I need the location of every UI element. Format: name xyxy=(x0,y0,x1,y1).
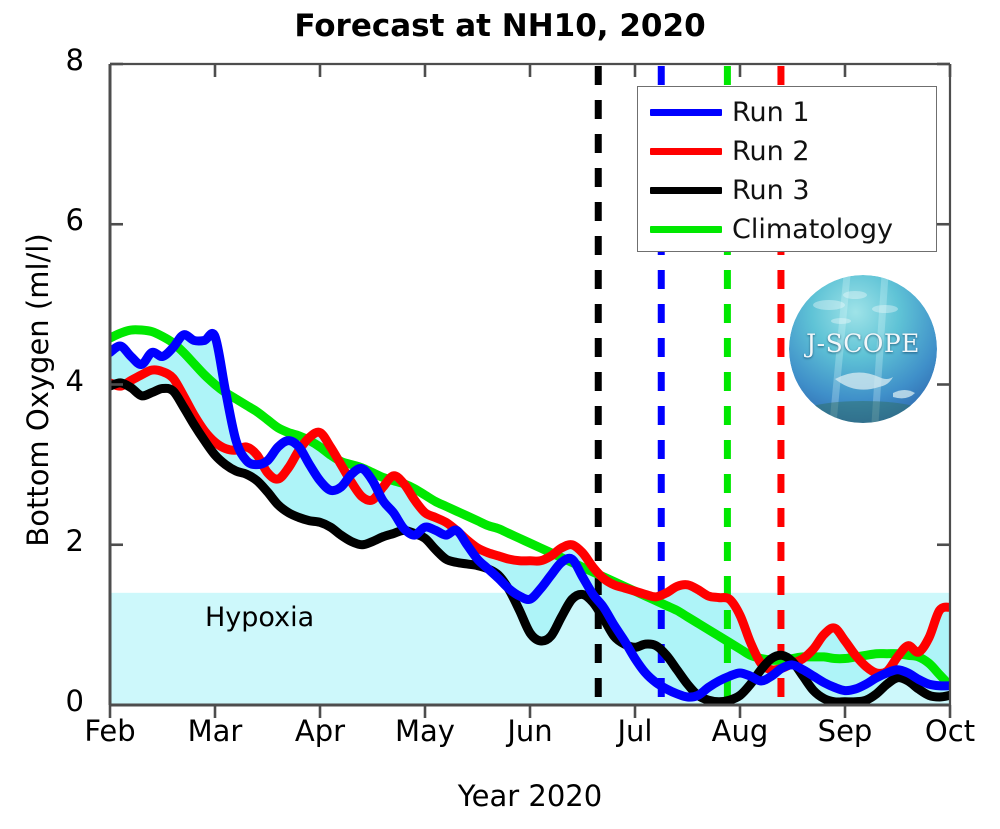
hypoxia-label: Hypoxia xyxy=(205,602,314,633)
y-tick-label: 0 xyxy=(22,684,84,718)
chart-canvas: Forecast at NH10, 2020 Bottom Oxygen (ml… xyxy=(0,0,1000,829)
y-tick-label: 8 xyxy=(22,43,84,77)
x-tick-label: Feb xyxy=(50,714,170,748)
legend-label-run2: Run 2 xyxy=(732,138,810,165)
legend-item-climatology[interactable]: Climatology xyxy=(638,210,936,249)
legend-swatch-run1 xyxy=(650,109,722,116)
jscope-logo-text: J-SCOPE xyxy=(789,329,937,358)
legend-item-run3[interactable]: Run 3 xyxy=(638,171,936,210)
legend-swatch-run3 xyxy=(650,187,722,194)
y-tick-label: 4 xyxy=(22,364,84,398)
x-tick-label: Jun xyxy=(470,714,590,748)
legend-label-run1: Run 1 xyxy=(732,99,810,126)
x-tick-label: Mar xyxy=(155,714,275,748)
jscope-logo: J-SCOPE xyxy=(789,275,937,423)
x-tick-label: May xyxy=(365,714,485,748)
legend-item-run1[interactable]: Run 1 xyxy=(638,93,936,132)
x-tick-label: Oct xyxy=(890,714,1000,748)
legend-swatch-climatology xyxy=(650,226,722,233)
x-tick-label: Sep xyxy=(785,714,905,748)
x-tick-label: Aug xyxy=(680,714,800,748)
legend-label-run3: Run 3 xyxy=(732,177,810,204)
legend-swatch-run2 xyxy=(650,148,722,155)
y-tick-label: 2 xyxy=(22,524,84,558)
legend-label-climatology: Climatology xyxy=(732,216,893,243)
y-tick-label: 6 xyxy=(22,203,84,237)
legend-item-run2[interactable]: Run 2 xyxy=(638,132,936,171)
legend: Run 1 Run 2 Run 3 Climatology xyxy=(637,86,937,252)
x-tick-label: Jul xyxy=(575,714,695,748)
x-tick-label: Apr xyxy=(260,714,380,748)
